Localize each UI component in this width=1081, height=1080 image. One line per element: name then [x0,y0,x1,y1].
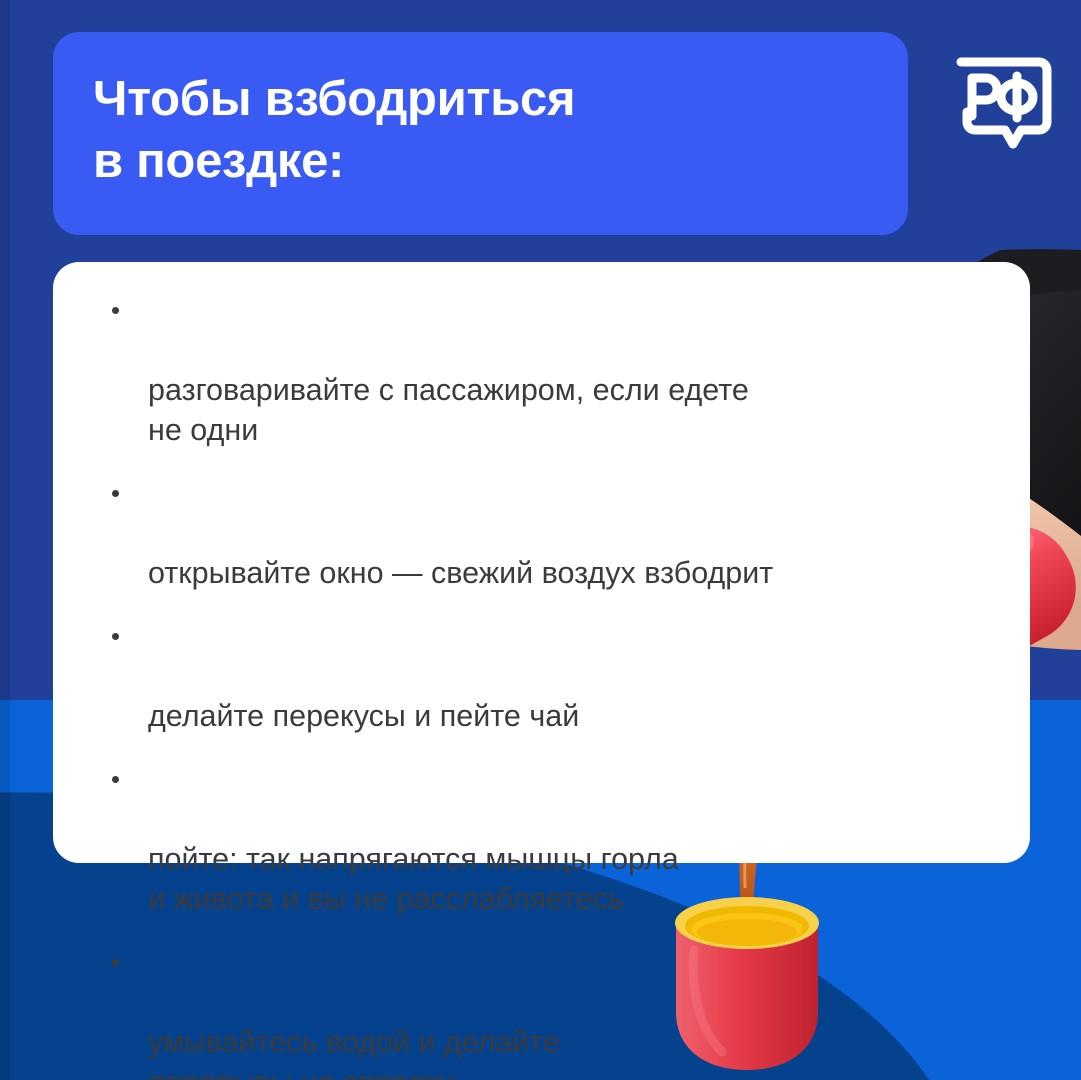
list-item: пойте: так напрягаются мышцы горла и жив… [108,759,938,919]
bullet-dot-icon [112,959,119,966]
bullet-dot-icon [112,490,119,497]
list-item: разговаривайте с пассажиром, если едете … [108,290,938,450]
list-item: открывайте окно — свежий воздух взбодрит [108,473,938,593]
list-item: делайте перекусы и пейте чай [108,616,938,736]
list-item-label: пойте: так напрягаются мышцы горла и жив… [148,842,679,916]
bullet-dot-icon [112,776,119,783]
rf-logo-icon [947,42,1059,154]
list-item-label: умывайтесь водой и делайте перерывы на з… [148,1025,560,1080]
list-item: умывайтесь водой и делайте перерывы на з… [108,942,938,1080]
bullet-dot-icon [112,307,119,314]
list-item-label: делайте перекусы и пейте чай [148,699,579,733]
page-title: Чтобы взбодриться в поездке: [93,68,873,192]
background-left-edge-band [0,0,10,1080]
bullet-dot-icon [112,633,119,640]
content-card: разговаривайте с пассажиром, если едете … [53,262,1030,863]
list-item-label: открывайте окно — свежий воздух взбодрит [148,556,773,590]
header-band: Чтобы взбодриться в поездке: [53,32,908,235]
tips-list: разговаривайте с пассажиром, если едете … [108,290,938,1080]
list-item-label: разговаривайте с пассажиром, если едете … [148,373,749,447]
poster-root: Чтобы взбодриться в поездке: [0,0,1081,1080]
